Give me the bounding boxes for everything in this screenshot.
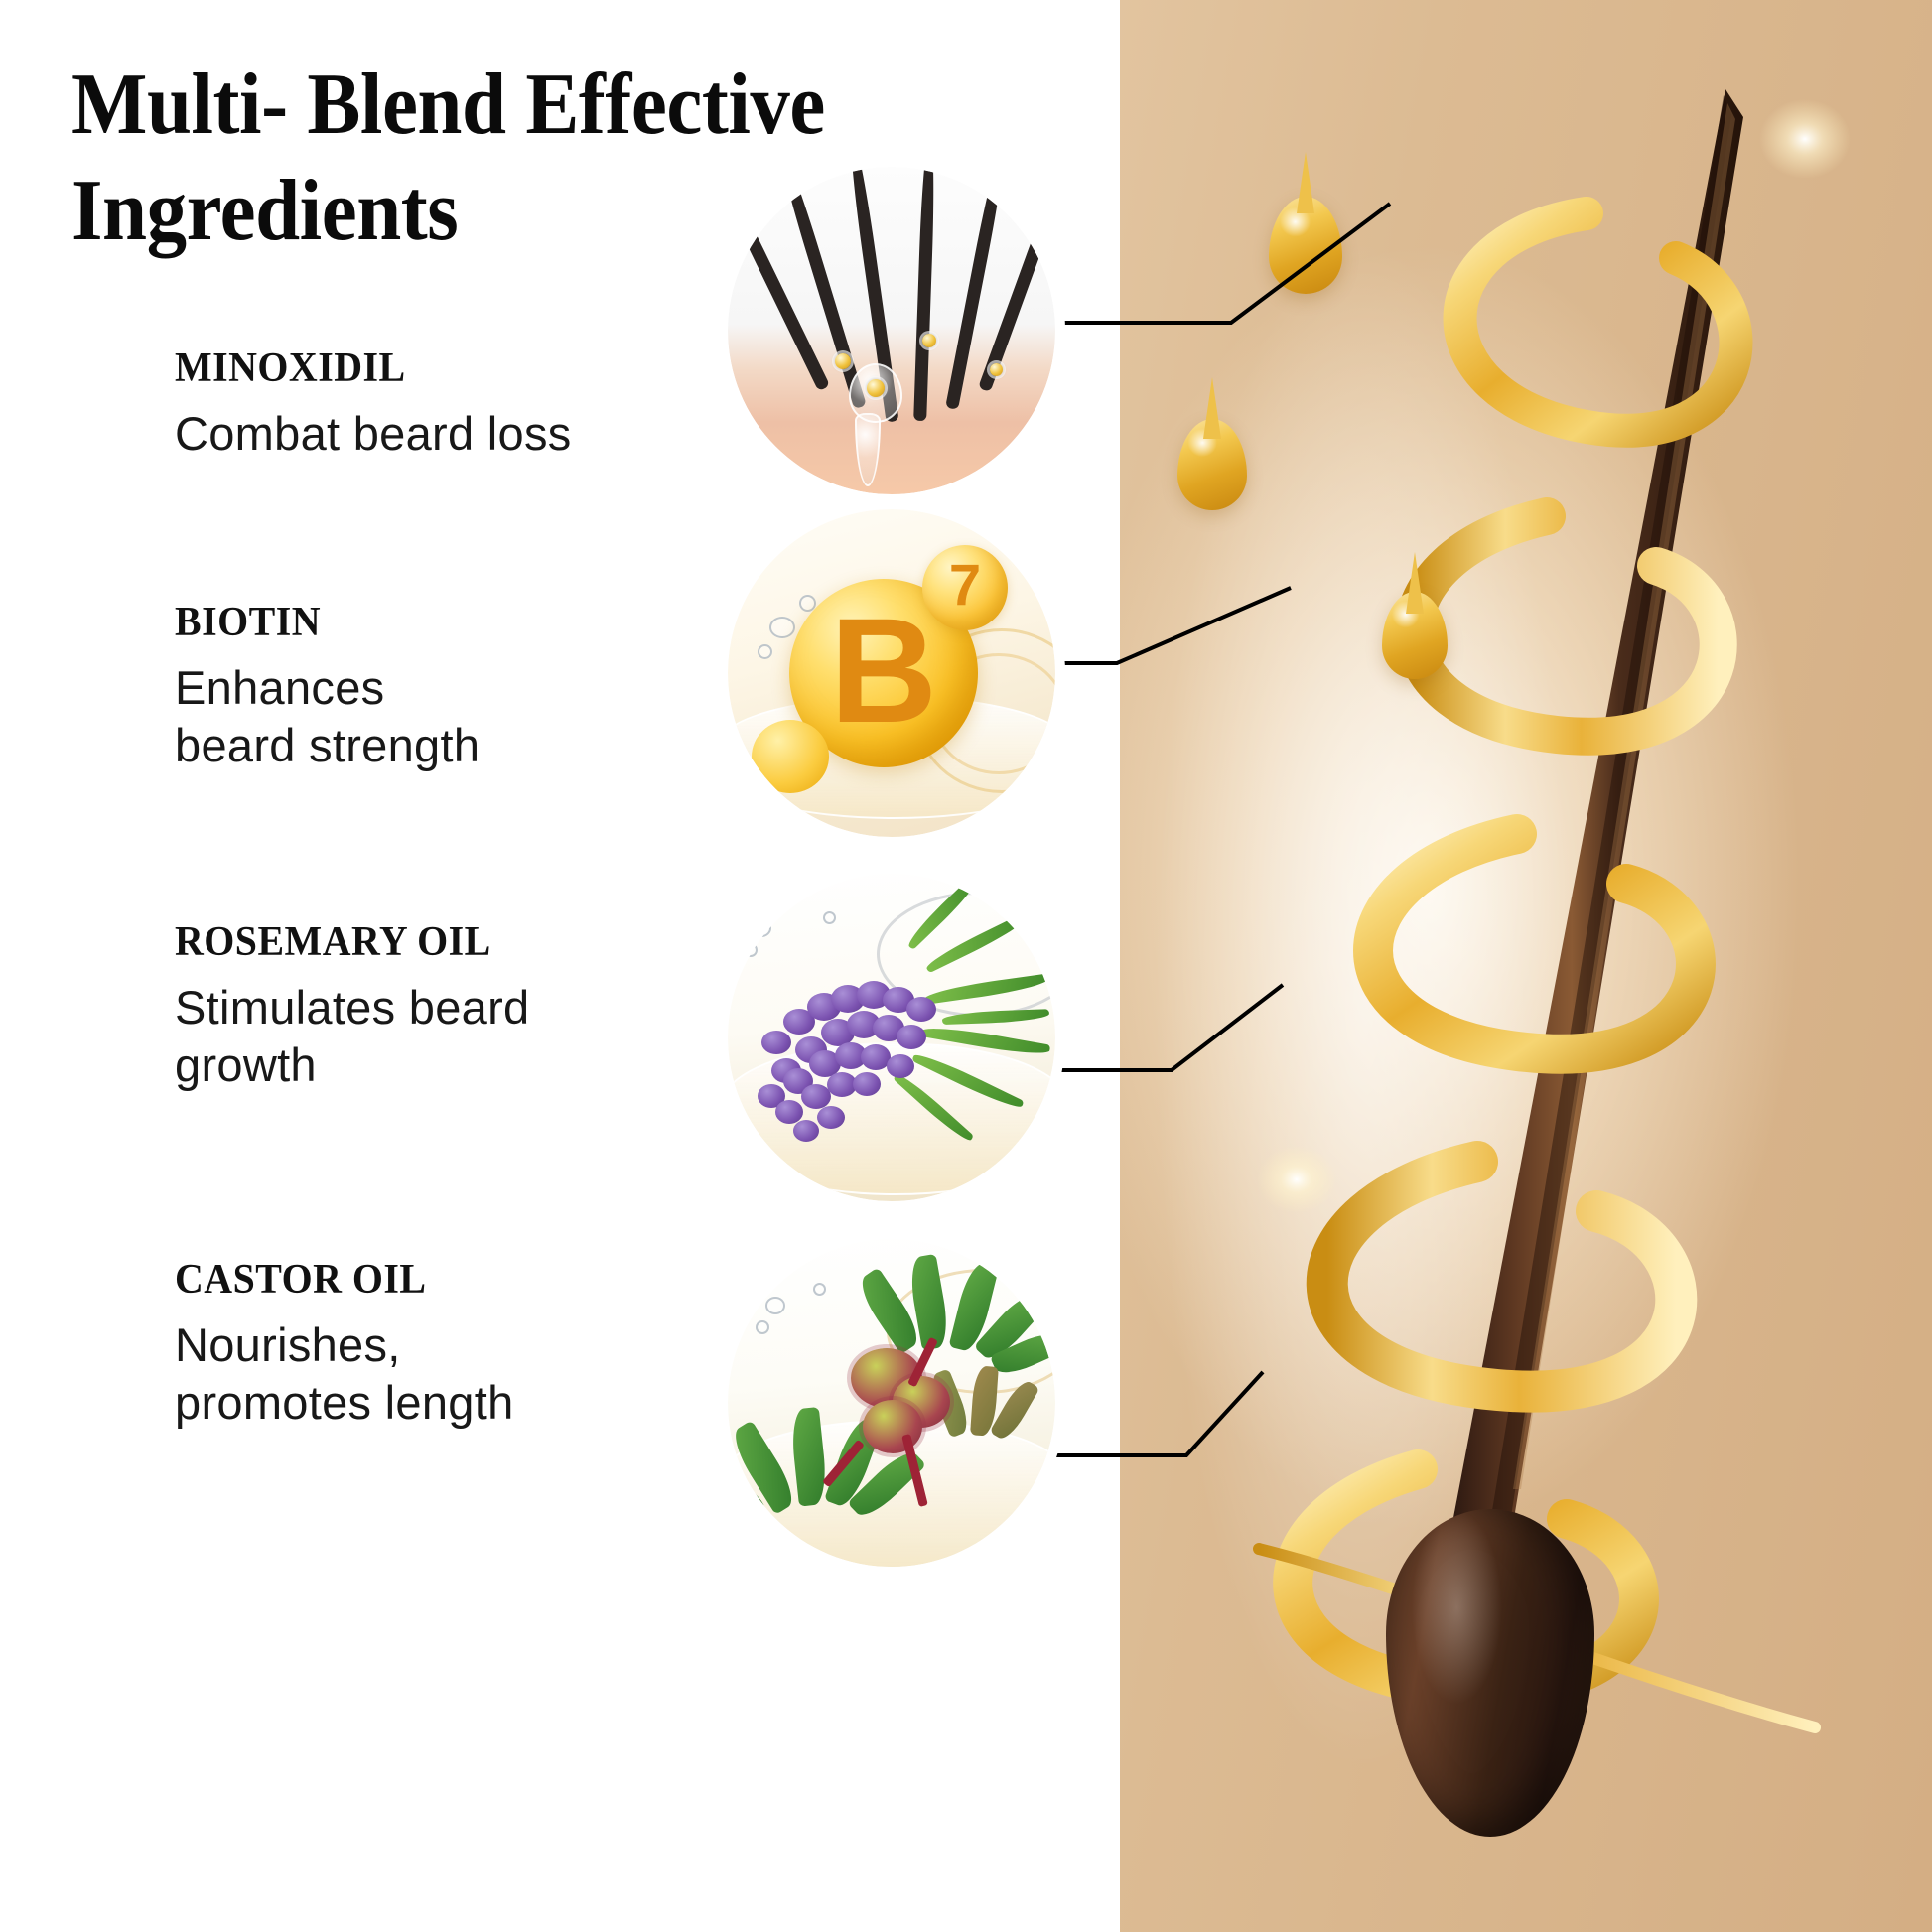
vitamin-number-sphere: 7 [922,545,1008,630]
ingredient-item-biotin: BIOTIN Enhances beard strength [175,600,731,775]
ingredient-description-line-1: Nourishes, [175,1316,731,1374]
ingredient-image-biotin: B 7 [728,509,1055,837]
ingredient-description: Combat beard loss [175,405,731,463]
vitamin-number: 7 [922,552,1008,619]
page-title-line-1: Multi- Blend Effective [71,52,876,158]
ingredient-image-rosemary-oil [728,874,1055,1201]
ingredient-description-line-1: Stimulates beard [175,979,731,1036]
hair-strand-artwork [1120,0,1932,1932]
ingredient-description-line-2: beard strength [175,717,731,774]
ingredient-description: Nourishes, promotes length [175,1316,731,1433]
ingredient-image-castor-oil [728,1239,1055,1567]
ingredient-description: Stimulates beard growth [175,979,731,1095]
ingredient-name: MINOXIDIL [175,345,703,391]
ingredient-item-castor-oil: CASTOR OIL Nourishes, promotes length [175,1257,731,1433]
ingredient-item-rosemary-oil: ROSEMARY OIL Stimulates beard growth [175,919,731,1095]
ingredient-name: CASTOR OIL [175,1257,703,1303]
ingredient-description: Enhances beard strength [175,659,731,775]
ingredient-item-minoxidil: MINOXIDIL Combat beard loss [175,345,731,463]
ingredient-name: BIOTIN [175,600,703,645]
ingredient-description-line-2: promotes length [175,1374,731,1432]
infographic-canvas: Multi- Blend Effective Ingredients MINOX… [0,0,1932,1932]
ingredient-description-line-1: Enhances [175,659,731,717]
ingredient-description-line-2: growth [175,1036,731,1094]
ingredient-image-minoxidil [728,167,1055,494]
ingredient-name: ROSEMARY OIL [175,919,703,965]
